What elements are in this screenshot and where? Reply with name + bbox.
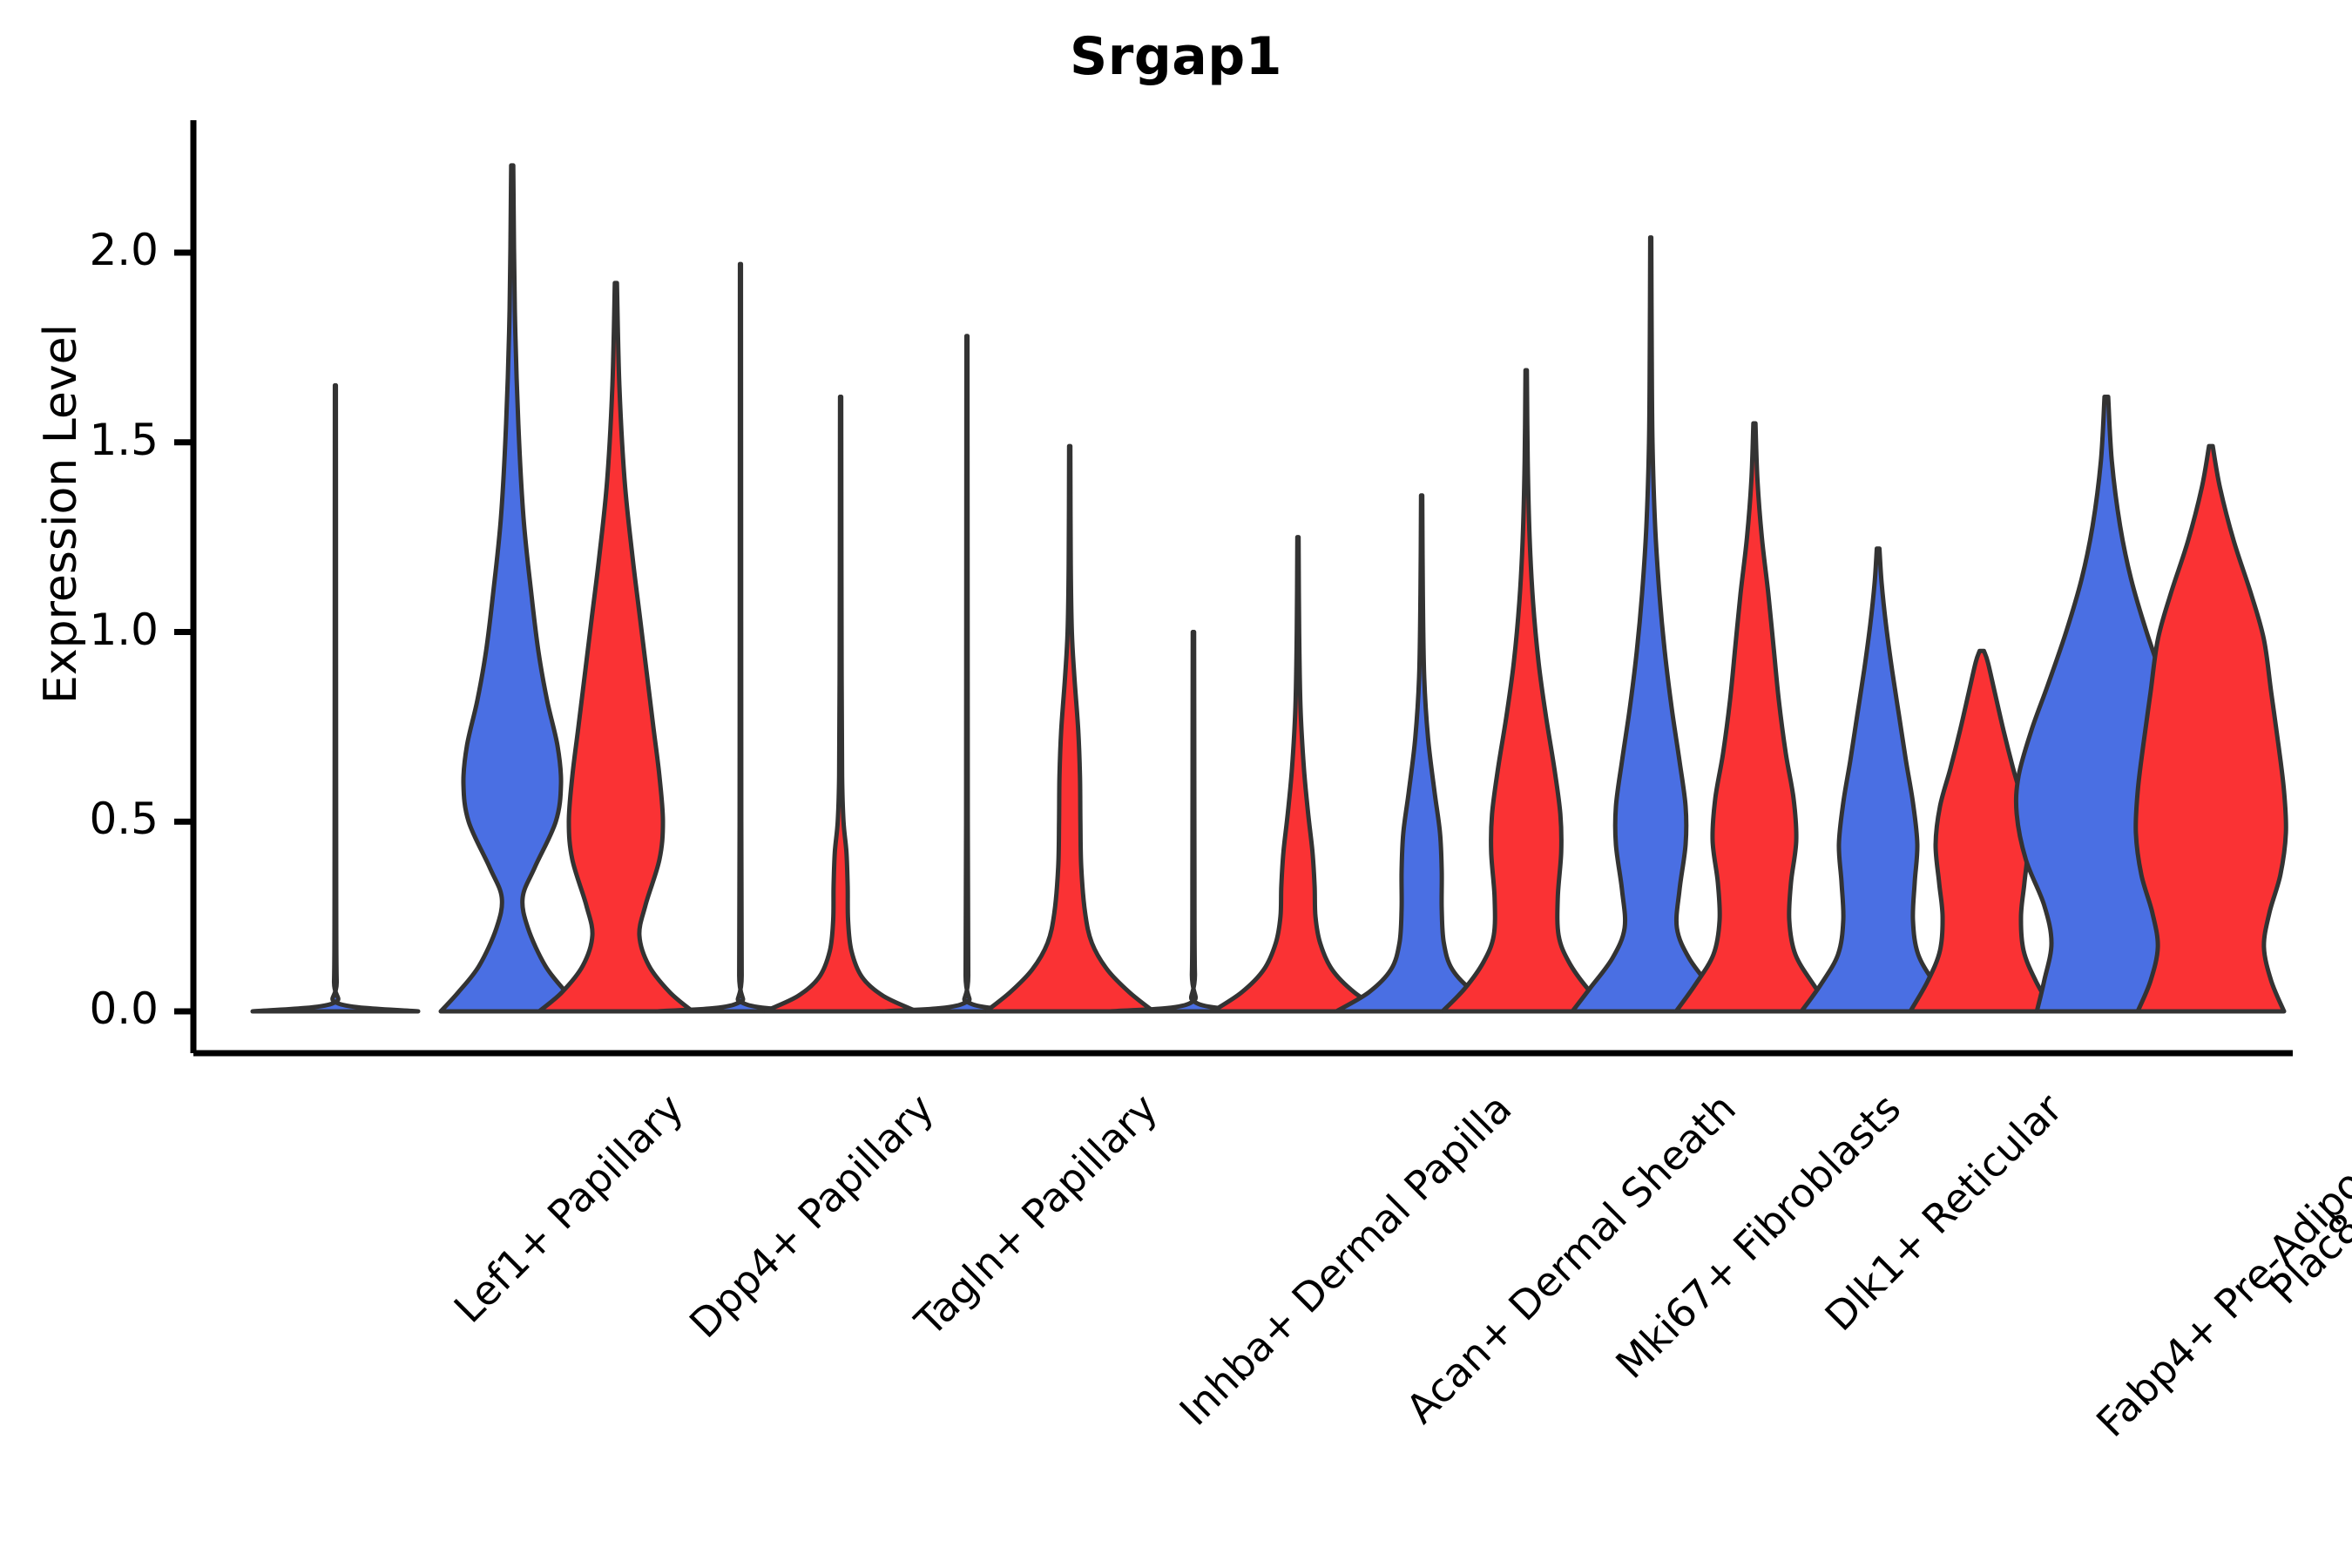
violin-layer: [253, 166, 2286, 1011]
violin-body: [1111, 632, 1276, 1012]
violin-body: [658, 264, 823, 1011]
violin-body: [253, 385, 418, 1011]
violin-body: [1213, 537, 1383, 1011]
violin-body: [1336, 496, 1507, 1011]
violin-plot-svg: [0, 0, 2352, 1568]
violin-body: [1572, 238, 1729, 1011]
figure-canvas: Srgap1 Expression Level 0.00.51.01.52.0 …: [0, 0, 2352, 1568]
violin-body: [765, 396, 917, 1011]
violin-body: [1801, 549, 1955, 1011]
violin-body: [884, 336, 1050, 1011]
violin-body: [2136, 446, 2287, 1011]
violin-body: [539, 283, 693, 1011]
violin-body: [441, 166, 584, 1011]
violin-body: [1443, 370, 1610, 1011]
violin-body: [1676, 423, 1833, 1011]
violin-body: [986, 446, 1153, 1011]
